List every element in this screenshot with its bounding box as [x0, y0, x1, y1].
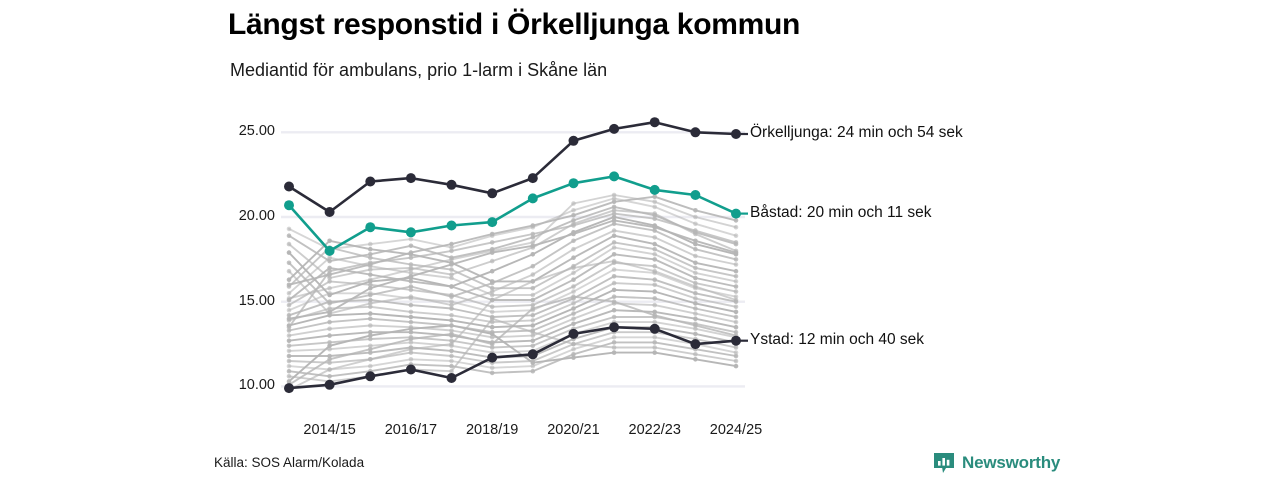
- background-series-point: [368, 357, 373, 362]
- background-series-point: [327, 255, 332, 260]
- background-series-point: [652, 235, 657, 240]
- background-series-point: [571, 247, 576, 252]
- y-tick-label: 20.00: [215, 208, 275, 224]
- background-series-point: [490, 305, 495, 310]
- series-point-ystad: [528, 349, 538, 359]
- series-point-ystad: [406, 365, 416, 375]
- background-series-point: [449, 318, 454, 323]
- background-series-point: [693, 254, 698, 259]
- background-series-point: [693, 208, 698, 213]
- background-series-point: [612, 193, 617, 198]
- line-chart-canvas: [0, 0, 1280, 480]
- background-series-point: [287, 333, 292, 338]
- background-series-point: [734, 233, 739, 238]
- background-series-point: [652, 296, 657, 301]
- background-series-point: [327, 320, 332, 325]
- background-series-point: [449, 323, 454, 328]
- series-point-ystad: [487, 353, 497, 363]
- background-series-point: [531, 223, 536, 228]
- background-series-point: [693, 332, 698, 337]
- background-series-point: [531, 306, 536, 311]
- background-series-point: [409, 288, 414, 293]
- background-series-point: [409, 327, 414, 332]
- series-label-båstad: Båstad: 20 min och 11 sek: [750, 204, 932, 222]
- background-series-point: [327, 239, 332, 244]
- background-series-point: [409, 250, 414, 255]
- background-series-point: [490, 293, 495, 298]
- background-series-point: [693, 266, 698, 271]
- background-series-point: [734, 269, 739, 274]
- background-series-point: [287, 338, 292, 343]
- background-series-point: [612, 345, 617, 350]
- background-series-point: [571, 277, 576, 282]
- background-series-point: [287, 308, 292, 313]
- background-series-point: [287, 242, 292, 247]
- series-point-örkelljunga: [447, 180, 457, 190]
- background-series-point: [571, 223, 576, 228]
- background-series-point: [409, 320, 414, 325]
- background-series-point: [612, 240, 617, 245]
- series-point-båstad: [690, 190, 700, 200]
- series-point-örkelljunga: [284, 182, 294, 192]
- series-point-ystad: [650, 324, 660, 334]
- background-series-point: [571, 311, 576, 316]
- background-series-point: [449, 306, 454, 311]
- background-series-point: [612, 350, 617, 355]
- background-series-point: [571, 316, 576, 321]
- background-series-point: [693, 228, 698, 233]
- background-series-point: [612, 340, 617, 345]
- background-series-point: [490, 286, 495, 291]
- x-tick-label: 2024/25: [710, 422, 762, 438]
- background-series-point: [368, 316, 373, 321]
- background-series-point: [612, 294, 617, 299]
- background-series-point: [368, 333, 373, 338]
- background-series-point: [531, 313, 536, 318]
- background-series-point: [490, 249, 495, 254]
- background-series-point: [612, 228, 617, 233]
- background-series-point: [287, 291, 292, 296]
- x-tick-label: 2014/15: [303, 422, 355, 438]
- background-series-point: [734, 315, 739, 320]
- background-series-point: [368, 305, 373, 310]
- background-series-point: [734, 257, 739, 262]
- background-series-point: [490, 366, 495, 371]
- background-series-point: [612, 218, 617, 223]
- background-series-point: [327, 374, 332, 379]
- background-series-point: [368, 272, 373, 277]
- background-series-point: [734, 240, 739, 245]
- background-series-point: [449, 359, 454, 364]
- background-series-point: [734, 284, 739, 289]
- background-series-point: [734, 320, 739, 325]
- background-series-point: [734, 274, 739, 279]
- background-series-point: [409, 315, 414, 320]
- background-series-point: [571, 306, 576, 311]
- background-series-point: [571, 347, 576, 352]
- series-line-örkelljunga: [289, 122, 736, 212]
- background-series-point: [734, 250, 739, 255]
- series-point-båstad: [650, 185, 660, 195]
- chart-page: Längst responstid i Örkelljunga kommun M…: [0, 0, 1280, 480]
- series-label-örkelljunga: Örkelljunga: 24 min och 54 sek: [750, 124, 963, 142]
- background-series-point: [734, 279, 739, 284]
- background-series-point: [368, 277, 373, 282]
- y-tick-label: 15.00: [215, 293, 275, 309]
- background-series-point: [693, 261, 698, 266]
- background-series-point: [571, 301, 576, 306]
- background-series-point: [327, 327, 332, 332]
- label-leader-lines: [736, 134, 748, 341]
- background-series-point: [612, 315, 617, 320]
- background-series-point: [287, 349, 292, 354]
- background-series-point: [693, 296, 698, 301]
- background-series-point: [734, 298, 739, 303]
- background-series-point: [449, 267, 454, 272]
- background-series-point: [652, 269, 657, 274]
- background-series-point: [693, 316, 698, 321]
- background-series-point: [652, 247, 657, 252]
- background-series-point: [612, 274, 617, 279]
- background-series-point: [327, 344, 332, 349]
- background-series-point: [368, 298, 373, 303]
- background-series-point: [734, 345, 739, 350]
- background-series-point: [449, 313, 454, 318]
- background-series-point: [287, 359, 292, 364]
- background-series-point: [327, 286, 332, 291]
- background-series-point: [652, 211, 657, 216]
- background-series-point: [449, 349, 454, 354]
- background-series-point: [409, 237, 414, 242]
- series-point-örkelljunga: [325, 207, 335, 217]
- background-series-point: [368, 247, 373, 252]
- background-series-point: [327, 310, 332, 315]
- background-series-point: [287, 283, 292, 288]
- background-series-point: [409, 337, 414, 342]
- background-series-point: [652, 340, 657, 345]
- y-tick-label: 25.00: [215, 123, 275, 139]
- background-series-point: [409, 303, 414, 308]
- background-series-point: [652, 345, 657, 350]
- background-series-point: [287, 303, 292, 308]
- background-series-point: [571, 201, 576, 206]
- background-series-point: [287, 374, 292, 379]
- background-series-point: [449, 242, 454, 247]
- background-series-point: [734, 359, 739, 364]
- background-series-point: [571, 213, 576, 218]
- series-point-örkelljunga: [569, 136, 579, 146]
- background-series-point: [734, 325, 739, 330]
- background-series-point: [449, 284, 454, 289]
- background-series-point: [449, 299, 454, 304]
- background-series-point: [652, 277, 657, 282]
- background-series-point: [409, 267, 414, 272]
- background-series-point: [571, 355, 576, 360]
- background-series-point: [693, 291, 698, 296]
- series-point-örkelljunga: [690, 127, 700, 137]
- background-series-point: [287, 354, 292, 359]
- background-series-point: [734, 225, 739, 230]
- background-series-point: [652, 350, 657, 355]
- background-series-point: [693, 215, 698, 220]
- background-series-point: [571, 208, 576, 213]
- background-series-point: [449, 262, 454, 267]
- background-series-point: [652, 252, 657, 257]
- background-series-point: [571, 322, 576, 327]
- background-series-point: [490, 259, 495, 264]
- background-series-point: [409, 310, 414, 315]
- background-series-point: [449, 257, 454, 262]
- background-series-point: [327, 333, 332, 338]
- background-series-point: [693, 301, 698, 306]
- background-series-point: [652, 289, 657, 294]
- x-tick-label: 2018/19: [466, 422, 518, 438]
- background-series-point: [531, 279, 536, 284]
- background-series-point: [693, 323, 698, 328]
- background-series-point: [571, 284, 576, 289]
- background-series-point: [612, 288, 617, 293]
- background-series-point: [287, 250, 292, 255]
- background-series-point: [368, 262, 373, 267]
- background-series-point: [327, 291, 332, 296]
- background-series-point: [327, 367, 332, 372]
- series-point-båstad: [487, 217, 497, 227]
- series-point-örkelljunga: [528, 173, 538, 183]
- series-point-örkelljunga: [650, 117, 660, 127]
- background-series-point: [571, 342, 576, 347]
- background-series-point: [693, 284, 698, 289]
- series-point-båstad: [609, 171, 619, 181]
- background-series-point: [612, 308, 617, 313]
- background-series-point: [734, 218, 739, 223]
- background-series-point: [368, 242, 373, 247]
- series-point-örkelljunga: [609, 124, 619, 134]
- background-series-point: [571, 289, 576, 294]
- background-series-point: [327, 272, 332, 277]
- series-point-båstad: [528, 193, 538, 203]
- background-series-point: [652, 313, 657, 318]
- background-series-point: [612, 211, 617, 216]
- background-series-point: [449, 369, 454, 374]
- background-series-point: [693, 239, 698, 244]
- background-series-point: [490, 232, 495, 237]
- background-series-point: [693, 357, 698, 362]
- background-series-point: [490, 342, 495, 347]
- background-series-point: [368, 364, 373, 369]
- background-series-point: [449, 276, 454, 281]
- background-series-point: [652, 242, 657, 247]
- background-series-point: [490, 371, 495, 376]
- background-series-point: [409, 296, 414, 301]
- series-point-båstad: [406, 227, 416, 237]
- series-point-örkelljunga: [365, 177, 375, 187]
- series-point-örkelljunga: [487, 188, 497, 198]
- background-series-point: [409, 357, 414, 362]
- background-series-point: [652, 335, 657, 340]
- background-series-point: [571, 271, 576, 276]
- background-series-point: [734, 310, 739, 315]
- background-series-point: [734, 262, 739, 267]
- background-series-point: [409, 255, 414, 260]
- background-series-point: [449, 249, 454, 254]
- background-series-point: [287, 261, 292, 266]
- source-note: Källa: SOS Alarm/Kolada: [214, 455, 364, 470]
- series-point-örkelljunga: [406, 173, 416, 183]
- background-series-point: [531, 330, 536, 335]
- background-series-point: [652, 303, 657, 308]
- series-point-ystad: [609, 322, 619, 332]
- background-series-point: [612, 200, 617, 205]
- background-series-point: [449, 354, 454, 359]
- background-series-point: [287, 316, 292, 321]
- background-series-point: [368, 311, 373, 316]
- series-point-ystad: [365, 371, 375, 381]
- series-point-båstad: [569, 178, 579, 188]
- background-series-point: [652, 205, 657, 210]
- background-series-point: [531, 360, 536, 365]
- background-series-point: [531, 369, 536, 374]
- brand-name: Newsworthy: [962, 453, 1060, 473]
- series-point-ystad: [284, 383, 294, 393]
- background-series-point: [693, 222, 698, 227]
- background-series-point: [368, 323, 373, 328]
- x-tick-label: 2022/23: [629, 422, 681, 438]
- background-series-point: [734, 289, 739, 294]
- background-series-point: [612, 267, 617, 272]
- background-series-point: [531, 293, 536, 298]
- background-series-point: [531, 323, 536, 328]
- series-point-ystad: [569, 329, 579, 339]
- background-series-point: [490, 325, 495, 330]
- background-series-point: [449, 342, 454, 347]
- background-series-point: [693, 306, 698, 311]
- background-series-point: [490, 279, 495, 284]
- background-series-point: [734, 364, 739, 369]
- series-label-ystad: Ystad: 12 min och 40 sek: [750, 331, 924, 349]
- background-series-point: [287, 325, 292, 330]
- background-series-point: [531, 338, 536, 343]
- series-point-båstad: [447, 221, 457, 231]
- background-series-point: [327, 279, 332, 284]
- background-series-point: [531, 272, 536, 277]
- background-series-point: [287, 344, 292, 349]
- background-series-point: [652, 216, 657, 221]
- background-series-point: [287, 296, 292, 301]
- background-series-point: [652, 264, 657, 269]
- series-point-ystad: [447, 373, 457, 383]
- background-series-point: [734, 305, 739, 310]
- background-series-point: [287, 364, 292, 369]
- background-series-point: [287, 277, 292, 282]
- background-series-point: [734, 354, 739, 359]
- background-series-point: [287, 233, 292, 238]
- background-series-point: [368, 347, 373, 352]
- bar-chart-icon: [933, 452, 955, 474]
- background-series-point: [287, 269, 292, 274]
- background-series-point: [409, 274, 414, 279]
- background-series-point: [571, 255, 576, 260]
- background-series-point: [571, 294, 576, 299]
- x-tick-label: 2020/21: [547, 422, 599, 438]
- background-series-point: [652, 320, 657, 325]
- background-series-point: [652, 257, 657, 262]
- background-series-point: [531, 298, 536, 303]
- background-series-point: [531, 240, 536, 245]
- background-series-point: [531, 318, 536, 323]
- background-series-point: [490, 298, 495, 303]
- background-series-point: [287, 369, 292, 374]
- background-series-point: [327, 357, 332, 362]
- background-series-point: [652, 194, 657, 199]
- background-series-point: [612, 245, 617, 250]
- background-series-point: [409, 244, 414, 249]
- series-point-ystad: [325, 380, 335, 390]
- background-series-point: [449, 293, 454, 298]
- background-series-point: [368, 291, 373, 296]
- background-series-point: [612, 259, 617, 264]
- background-series-point: [368, 286, 373, 291]
- background-series-point: [490, 332, 495, 337]
- newsworthy-logo[interactable]: Newsworthy: [933, 452, 1060, 474]
- background-series-point: [409, 262, 414, 267]
- background-series-point: [531, 232, 536, 237]
- background-series-point: [531, 264, 536, 269]
- background-series-point: [693, 352, 698, 357]
- background-series-point: [693, 276, 698, 281]
- background-series-point: [490, 310, 495, 315]
- background-series-group: [287, 193, 739, 392]
- background-series-point: [287, 227, 292, 232]
- background-series-point: [693, 311, 698, 316]
- series-point-ystad: [690, 339, 700, 349]
- background-series-point: [612, 335, 617, 340]
- background-series-point: [612, 281, 617, 286]
- background-series-point: [490, 269, 495, 274]
- background-series-point: [693, 271, 698, 276]
- background-series-point: [531, 252, 536, 257]
- background-series-point: [409, 347, 414, 352]
- background-series-point: [449, 332, 454, 337]
- background-series-point: [612, 233, 617, 238]
- background-series-point: [652, 200, 657, 205]
- background-series-point: [693, 247, 698, 252]
- background-series-point: [531, 344, 536, 349]
- series-point-båstad: [284, 200, 294, 210]
- background-series-point: [571, 232, 576, 237]
- background-series-point: [652, 225, 657, 230]
- background-series-point: [612, 252, 617, 257]
- background-series-point: [490, 316, 495, 321]
- background-series-point: [327, 299, 332, 304]
- series-point-båstad: [365, 222, 375, 232]
- y-tick-label: 10.00: [215, 377, 275, 393]
- background-series-point: [612, 299, 617, 304]
- series-point-båstad: [325, 246, 335, 256]
- background-series-point: [652, 283, 657, 288]
- background-series-point: [490, 240, 495, 245]
- x-tick-label: 2016/17: [385, 422, 437, 438]
- background-series-point: [571, 266, 576, 271]
- background-series-point: [368, 255, 373, 260]
- background-series-point: [571, 239, 576, 244]
- background-series-point: [531, 286, 536, 291]
- background-series-point: [409, 279, 414, 284]
